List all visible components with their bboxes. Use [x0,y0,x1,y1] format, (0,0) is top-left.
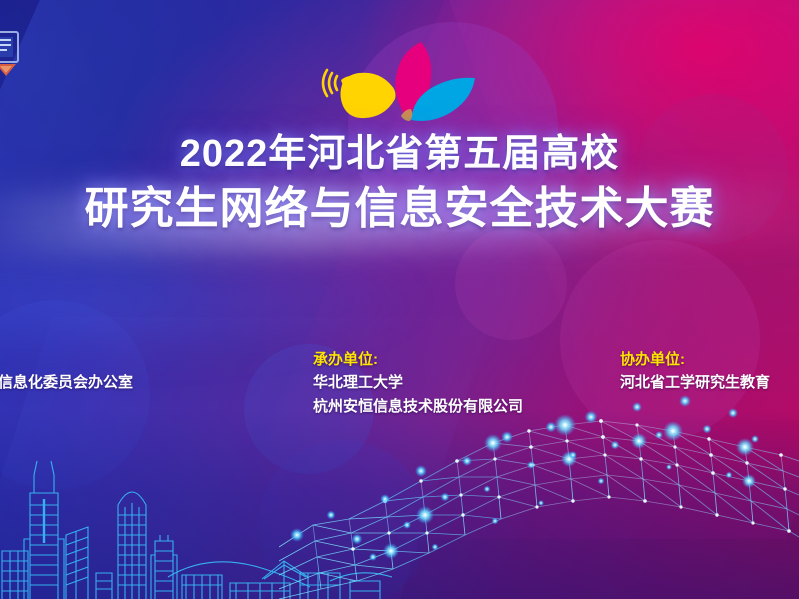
corner-emblem-logo [0,28,26,80]
page-title-line-2: 研究生网络与信息安全技术大赛 [0,184,799,233]
credit-host-line-2: 厅 [0,395,133,418]
page-title-line-1: 2022年河北省第五届高校 [0,133,799,176]
credit-host-line-1: 委网络安全和信息化委员会办公室 [0,371,133,394]
banner-poster: 2022年河北省第五届高校 研究生网络与信息安全技术大赛 委网络安全和信息化委员… [0,0,799,599]
glowing-particles [239,339,799,599]
butterfly-bird-logo [315,30,505,135]
title-block: 2022年河北省第五届高校 研究生网络与信息安全技术大赛 [0,133,799,233]
credit-host-column: 委网络安全和信息化委员会办公室 厅 [0,348,133,418]
